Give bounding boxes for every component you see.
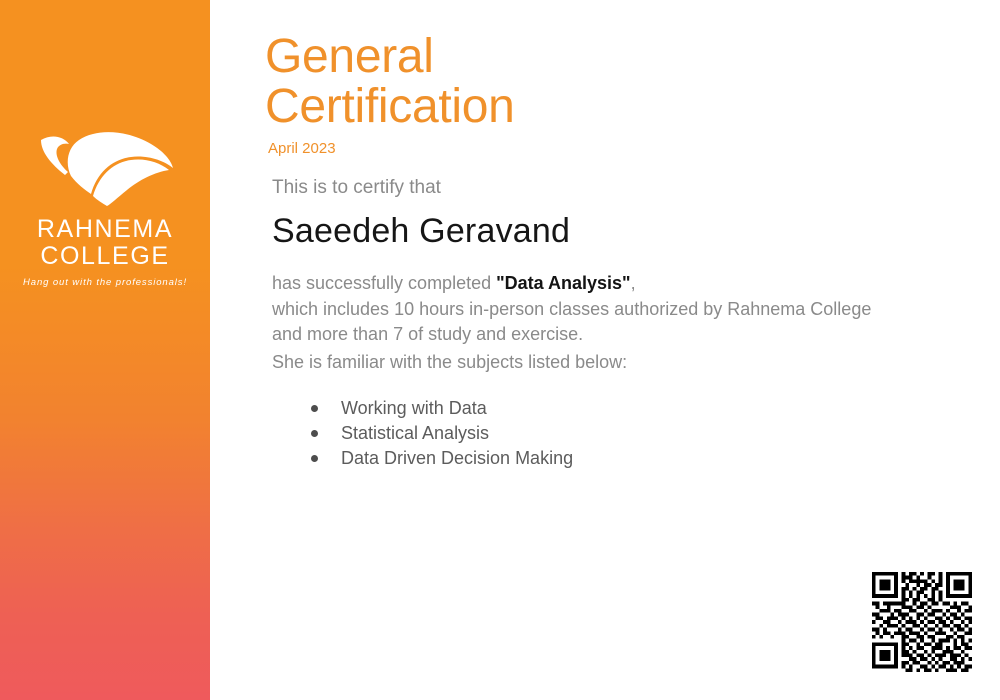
list-item: Working with Data xyxy=(309,396,573,421)
logo-block: RAHNEMA COLLEGE Hang out with the profes… xyxy=(0,128,210,288)
subjects-intro: She is familiar with the subjects listed… xyxy=(272,352,627,373)
certificate-title: General Certification xyxy=(265,32,515,132)
body-suffix: , xyxy=(631,273,636,293)
certify-statement: This is to certify that xyxy=(272,177,441,199)
body-line-2: which includes 10 hours in-person classe… xyxy=(272,299,871,319)
course-name: "Data Analysis" xyxy=(496,273,630,293)
rahnema-open-book-logo-icon xyxy=(35,128,175,206)
subject-label: Statistical Analysis xyxy=(341,423,489,443)
bullet-icon xyxy=(311,430,318,437)
logo-name-line1: RAHNEMA xyxy=(0,216,210,243)
certificate-page: RAHNEMA COLLEGE Hang out with the profes… xyxy=(0,0,1000,700)
subject-label: Working with Data xyxy=(341,398,487,418)
qr-code[interactable] xyxy=(872,571,972,673)
recipient-name: Saeedeh Geravand xyxy=(272,212,570,251)
qr-code-icon xyxy=(872,571,972,673)
bullet-icon xyxy=(311,405,318,412)
certificate-body: has successfully completed "Data Analysi… xyxy=(272,271,972,348)
list-item: Statistical Analysis xyxy=(309,421,573,446)
logo-tagline: Hang out with the professionals! xyxy=(0,277,210,288)
logo-name-line2: COLLEGE xyxy=(0,243,210,270)
list-item: Data Driven Decision Making xyxy=(309,446,573,471)
sidebar-brand-panel: RAHNEMA COLLEGE Hang out with the profes… xyxy=(0,0,210,700)
body-prefix: has successfully completed xyxy=(272,273,496,293)
subject-label: Data Driven Decision Making xyxy=(341,448,573,468)
certificate-date: April 2023 xyxy=(268,140,336,157)
subjects-list: Working with Data Statistical Analysis D… xyxy=(309,396,573,471)
bullet-icon xyxy=(311,455,318,462)
body-line-3: and more than 7 of study and exercise. xyxy=(272,324,583,344)
